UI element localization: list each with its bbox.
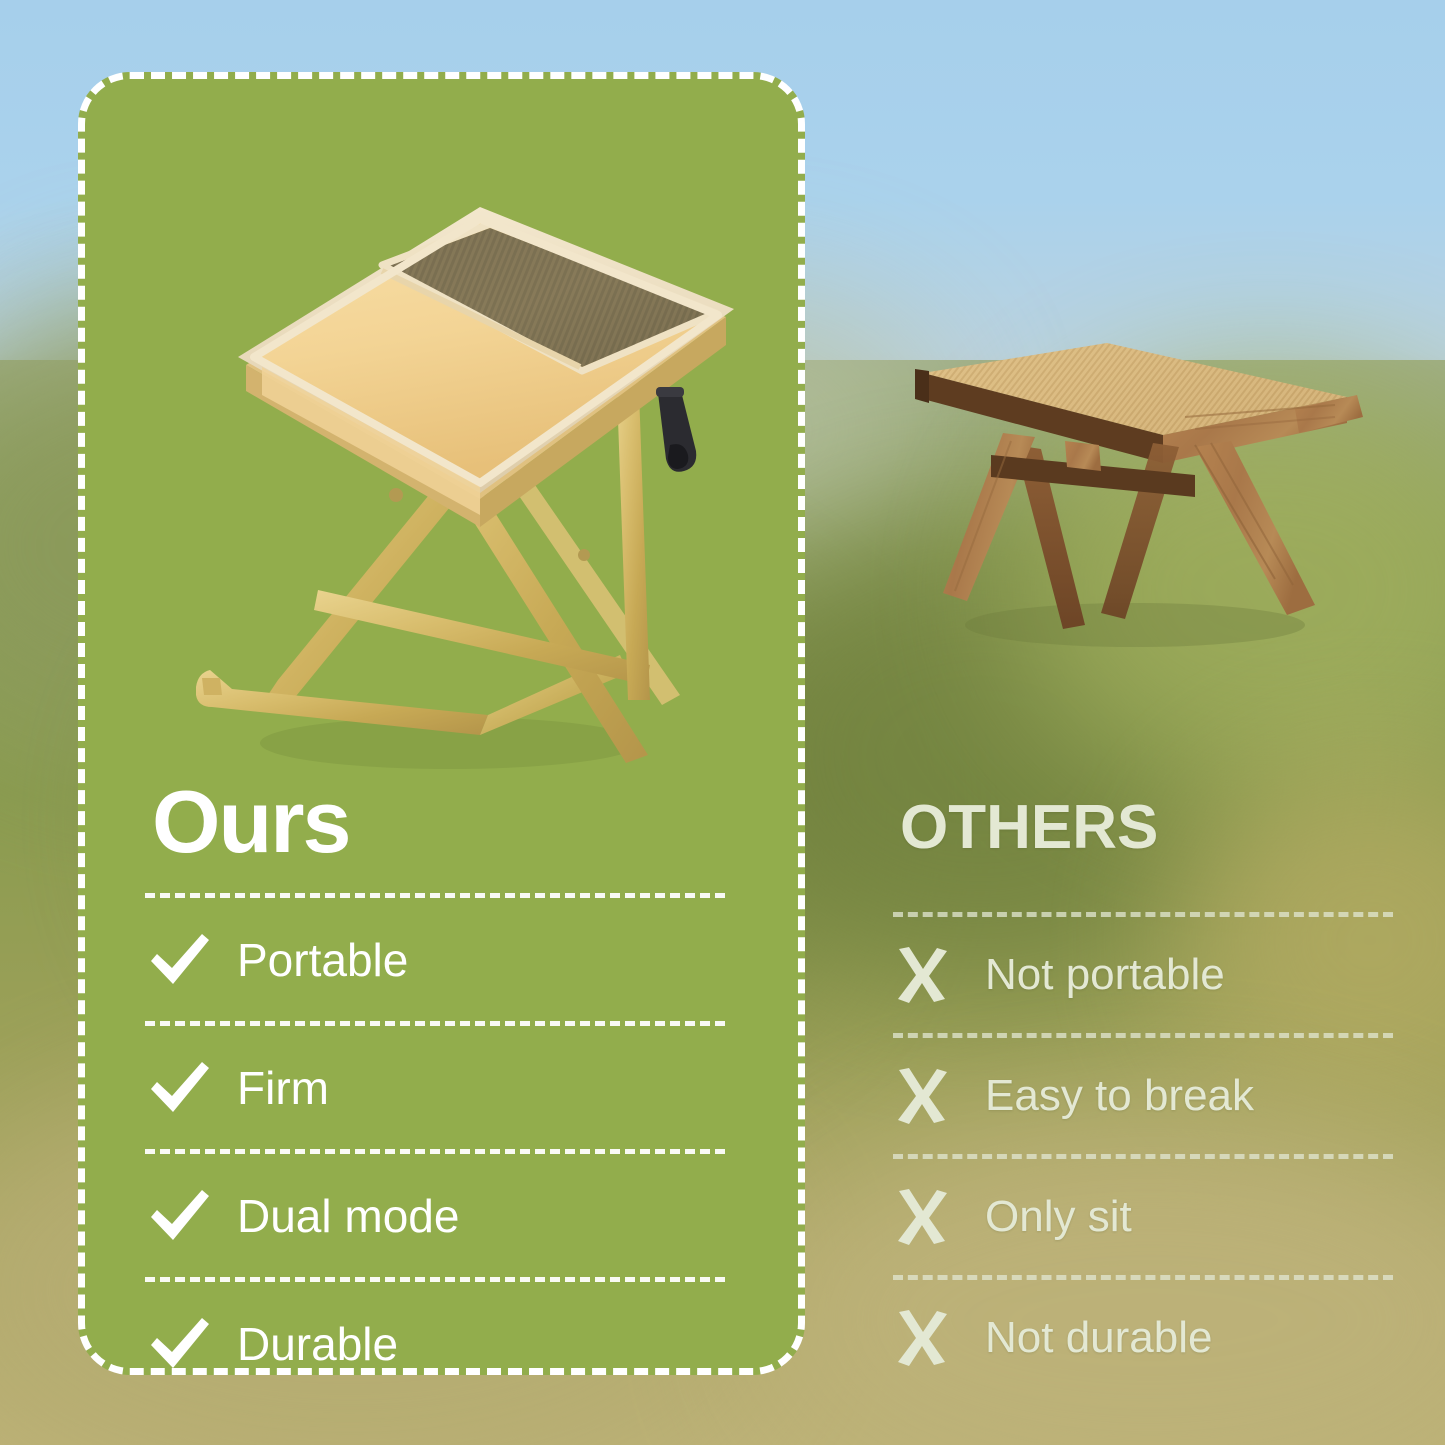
list-divider <box>145 1277 725 1282</box>
others-feature-list: Not portable Easy to break Only sit <box>893 912 1393 1396</box>
cross-icon <box>893 1310 985 1366</box>
list-item-label: Easy to break <box>985 1074 1254 1118</box>
list-divider <box>145 893 725 898</box>
list-item-label: Not portable <box>985 953 1225 997</box>
list-divider <box>893 1275 1393 1280</box>
ours-heading: Ours <box>152 778 349 866</box>
list-item-label: Portable <box>237 937 408 983</box>
ours-feature-list: Portable Firm Dual mode <box>145 893 725 1405</box>
comparison-infographic: Ours OTHERS Portable Firm <box>0 0 1445 1445</box>
others-heading: OTHERS <box>900 797 1158 859</box>
list-item: Not durable <box>893 1280 1393 1396</box>
ours-product-image <box>150 95 740 785</box>
list-item-label: Durable <box>237 1321 398 1367</box>
list-divider <box>893 1033 1393 1038</box>
list-item: Durable <box>145 1282 725 1405</box>
list-item: Portable <box>145 898 725 1021</box>
check-icon <box>145 1314 237 1374</box>
list-item: Firm <box>145 1026 725 1149</box>
check-icon <box>145 930 237 990</box>
list-divider <box>145 1021 725 1026</box>
list-item: Only sit <box>893 1159 1393 1275</box>
list-item-label: Firm <box>237 1065 329 1111</box>
check-icon <box>145 1058 237 1118</box>
others-product-image <box>895 325 1365 655</box>
list-item: Dual mode <box>145 1154 725 1277</box>
list-divider <box>893 1154 1393 1159</box>
cross-icon <box>893 947 985 1003</box>
check-icon <box>145 1186 237 1246</box>
list-item-label: Dual mode <box>237 1193 459 1239</box>
cross-icon <box>893 1189 985 1245</box>
list-item-label: Only sit <box>985 1195 1132 1239</box>
list-item: Not portable <box>893 917 1393 1033</box>
list-divider <box>893 912 1393 917</box>
list-item: Easy to break <box>893 1038 1393 1154</box>
list-divider <box>145 1149 725 1154</box>
cross-icon <box>893 1068 985 1124</box>
list-item-label: Not durable <box>985 1316 1212 1360</box>
